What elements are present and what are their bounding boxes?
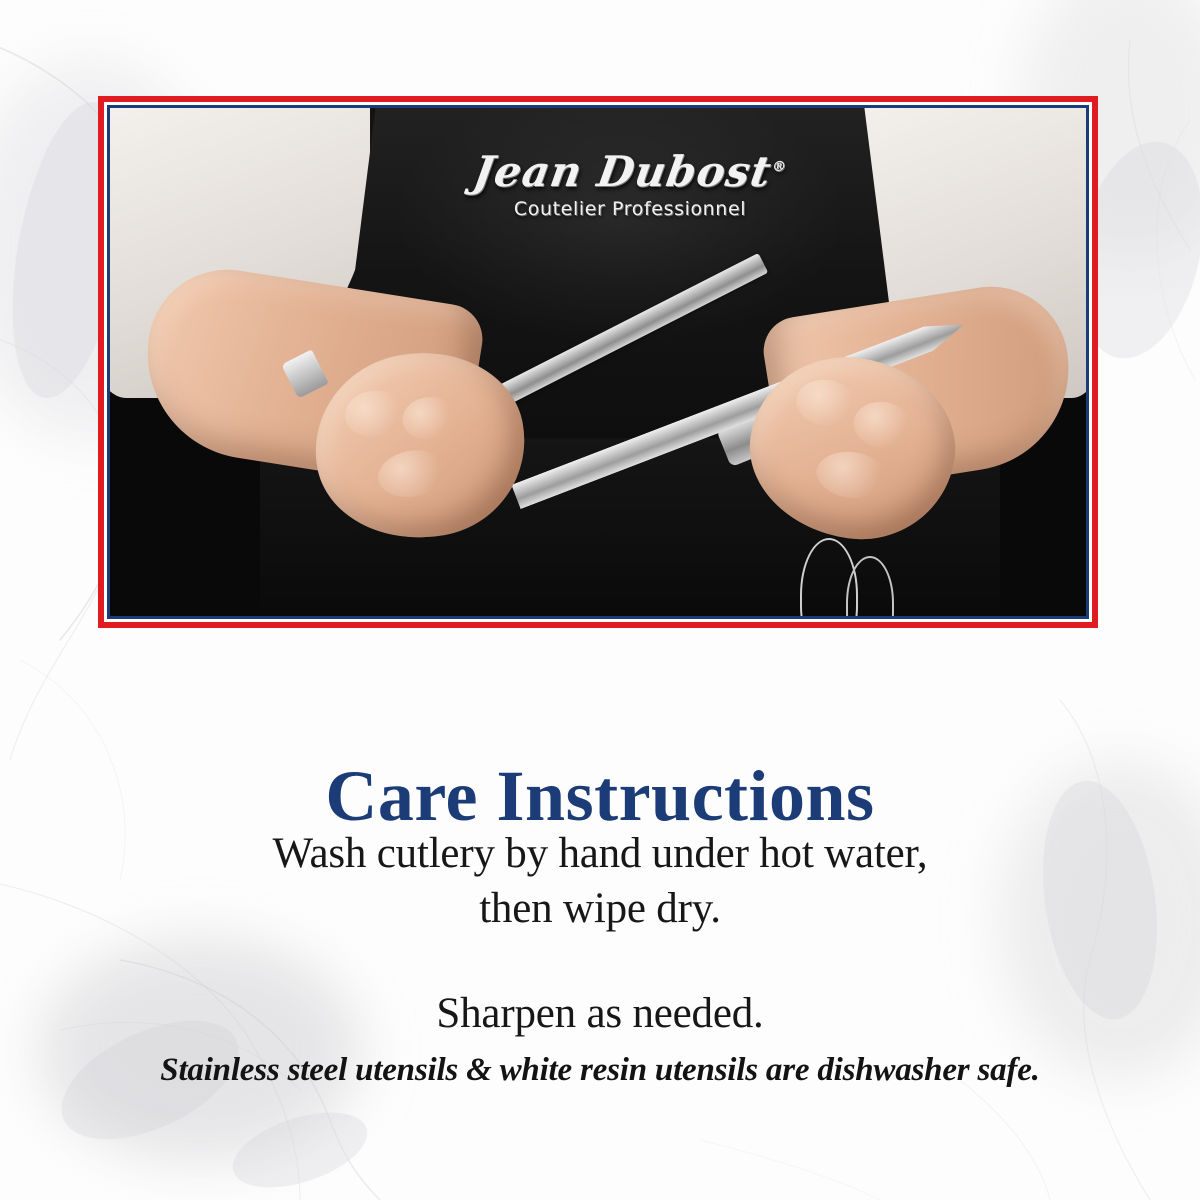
knuckle-highlight xyxy=(399,393,458,443)
instruction-paragraph-2: Sharpen as needed. xyxy=(0,986,1200,1041)
product-photo-frame: Jean Dubost® Coutelier Professionnel xyxy=(98,96,1098,628)
knuckle-highlight xyxy=(793,376,859,430)
product-photo: Jean Dubost® Coutelier Professionnel xyxy=(110,108,1086,616)
product-photo-inner-border: Jean Dubost® Coutelier Professionnel xyxy=(107,105,1089,619)
instruction-paragraph-1: Wash cutlery by hand under hot water, th… xyxy=(0,826,1200,936)
dishwasher-safe-note: Stainless steel utensils & white resin u… xyxy=(0,1052,1200,1089)
page-title: Care Instructions xyxy=(0,760,1200,832)
knuckle-highlight xyxy=(374,445,451,502)
knuckle-highlight xyxy=(813,447,891,503)
instruction-line-1b: then wipe dry. xyxy=(479,885,721,932)
knuckle-highlight xyxy=(341,386,406,441)
knuckle-highlight xyxy=(851,398,915,452)
care-instructions-body: Wash cutlery by hand under hot water, th… xyxy=(0,826,1200,1041)
instruction-line-1a: Wash cutlery by hand under hot water, xyxy=(273,830,928,877)
